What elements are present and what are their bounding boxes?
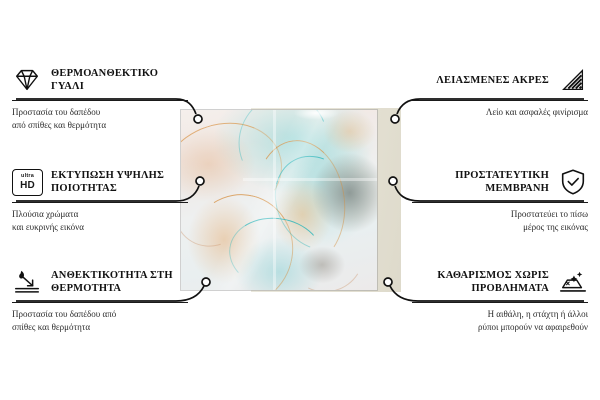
feature-description-line: Προστασία του δαπέδου από [12, 308, 188, 321]
feature-description-line: από σπίθες και θερμότητα [12, 119, 188, 132]
polished-edge-icon [558, 65, 588, 95]
feature-divider [12, 302, 188, 303]
feature-description-line: ρύποι μπορούν να αφαιρεθούν [412, 321, 588, 334]
feature-divider [412, 302, 588, 303]
feature-header: ΠΡΟΣΤΑΤΕΥΤΙΚΗ ΜΕΜΒΡΑΝΗ [412, 166, 588, 198]
ultra-hd-icon-top-text: ultra [21, 174, 34, 180]
feature-protective-membrane: ΠΡΟΣΤΑΤΕΥΤΙΚΗ ΜΕΜΒΡΑΝΗ Προστατεύει το πί… [412, 166, 588, 233]
feature-divider [12, 202, 188, 203]
ultra-hd-icon: ultra HD [12, 167, 42, 197]
feature-heat-resistant-glass: ΘΕΡΜΟΑΝΘΕΚΤΙΚΟ ΓΥΑΛΙ Προστασία του δαπέδ… [12, 64, 188, 131]
shield-check-icon [558, 167, 588, 197]
feature-header: ΑΝΘΕΚΤΙΚΟΤΗΤΑ ΣΤΗ ΘΕΡΜΟΤΗΤΑ [12, 266, 188, 298]
feature-description: Λείο και ασφαλές φινίρισμα [412, 106, 588, 119]
glass-specular-highlight [293, 110, 339, 120]
diamond-icon [12, 65, 42, 95]
feature-description: Πλούσια χρώματα και ευκρινής εικόνα [12, 208, 188, 233]
feature-heat-durability: ΑΝΘΕΚΤΙΚΟΤΗΤΑ ΣΤΗ ΘΕΡΜΟΤΗΤΑ Προστασία το… [12, 266, 188, 333]
feature-description-line: Προστατεύει το πίσω [412, 208, 588, 221]
feature-description-line: και ευκρινής εικόνα [12, 221, 188, 234]
feature-description-line: Πλούσια χρώματα [12, 208, 188, 221]
feature-header: ultra HD ΕΚΤΥΠΩΣΗ ΥΨΗΛΗΣ ΠΟΙΟΤΗΤΑΣ [12, 166, 188, 198]
ultra-hd-icon-bottom-text: HD [20, 181, 35, 191]
feature-description: Η αιθάλη, η στάχτη ή άλλοι ρύποι μπορούν… [412, 308, 588, 333]
sparkle-clean-icon [558, 267, 588, 297]
feature-description-line: Προστασία του δαπέδου [12, 106, 188, 119]
feature-high-quality-print: ultra HD ΕΚΤΥΠΩΣΗ ΥΨΗΛΗΣ ΠΟΙΟΤΗΤΑΣ Πλούσ… [12, 166, 188, 233]
feature-header: ΚΑΘΑΡΙΣΜΟΣ ΧΩΡΙΣ ΠΡΟΒΛΗΜΑΤΑ [412, 266, 588, 298]
feature-polished-edges: ΛΕΙΑΣΜΕΝΕΣ ΑΚΡΕΣ Λείο και ασφαλές φινίρι… [412, 64, 588, 119]
feature-description-line: σπίθες και θερμότητα [12, 321, 188, 334]
feature-divider [412, 202, 588, 203]
feature-easy-cleaning: ΚΑΘΑΡΙΣΜΟΣ ΧΩΡΙΣ ΠΡΟΒΛΗΜΑΤΑ Η αιθάλη, η … [412, 266, 588, 333]
heat-deflect-icon [12, 267, 42, 297]
feature-description-line: μέρος της εικόνας [412, 221, 588, 234]
feature-title: ΘΕΡΜΟΑΝΘΕΚΤΙΚΟ ΓΥΑΛΙ [51, 67, 188, 93]
feature-title: ΛΕΙΑΣΜΕΝΕΣ ΑΚΡΕΣ [436, 74, 549, 87]
glass-splashback-panel [181, 110, 377, 290]
feature-title: ΑΝΘΕΚΤΙΚΟΤΗΤΑ ΣΤΗ ΘΕΡΜΟΤΗΤΑ [51, 269, 188, 295]
feature-description-line: Η αιθάλη, η στάχτη ή άλλοι [412, 308, 588, 321]
product-image-stage [181, 110, 401, 292]
feature-description: Προστασία του δαπέδου από σπίθες και θερ… [12, 308, 188, 333]
feature-description: Προστασία του δαπέδου από σπίθες και θερ… [12, 106, 188, 131]
feature-description-line: Λείο και ασφαλές φινίρισμα [412, 106, 588, 119]
glass-gloss-overlay [181, 110, 377, 290]
feature-title: ΕΚΤΥΠΩΣΗ ΥΨΗΛΗΣ ΠΟΙΟΤΗΤΑΣ [51, 169, 188, 195]
feature-header: ΛΕΙΑΣΜΕΝΕΣ ΑΚΡΕΣ [412, 64, 588, 96]
feature-description: Προστατεύει το πίσω μέρος της εικόνας [412, 208, 588, 233]
feature-title: ΚΑΘΑΡΙΣΜΟΣ ΧΩΡΙΣ ΠΡΟΒΛΗΜΑΤΑ [412, 269, 549, 295]
feature-header: ΘΕΡΜΟΑΝΘΕΚΤΙΚΟ ΓΥΑΛΙ [12, 64, 188, 96]
feature-title: ΠΡΟΣΤΑΤΕΥΤΙΚΗ ΜΕΜΒΡΑΝΗ [412, 169, 549, 195]
feature-divider [412, 100, 588, 101]
feature-divider [12, 100, 188, 101]
